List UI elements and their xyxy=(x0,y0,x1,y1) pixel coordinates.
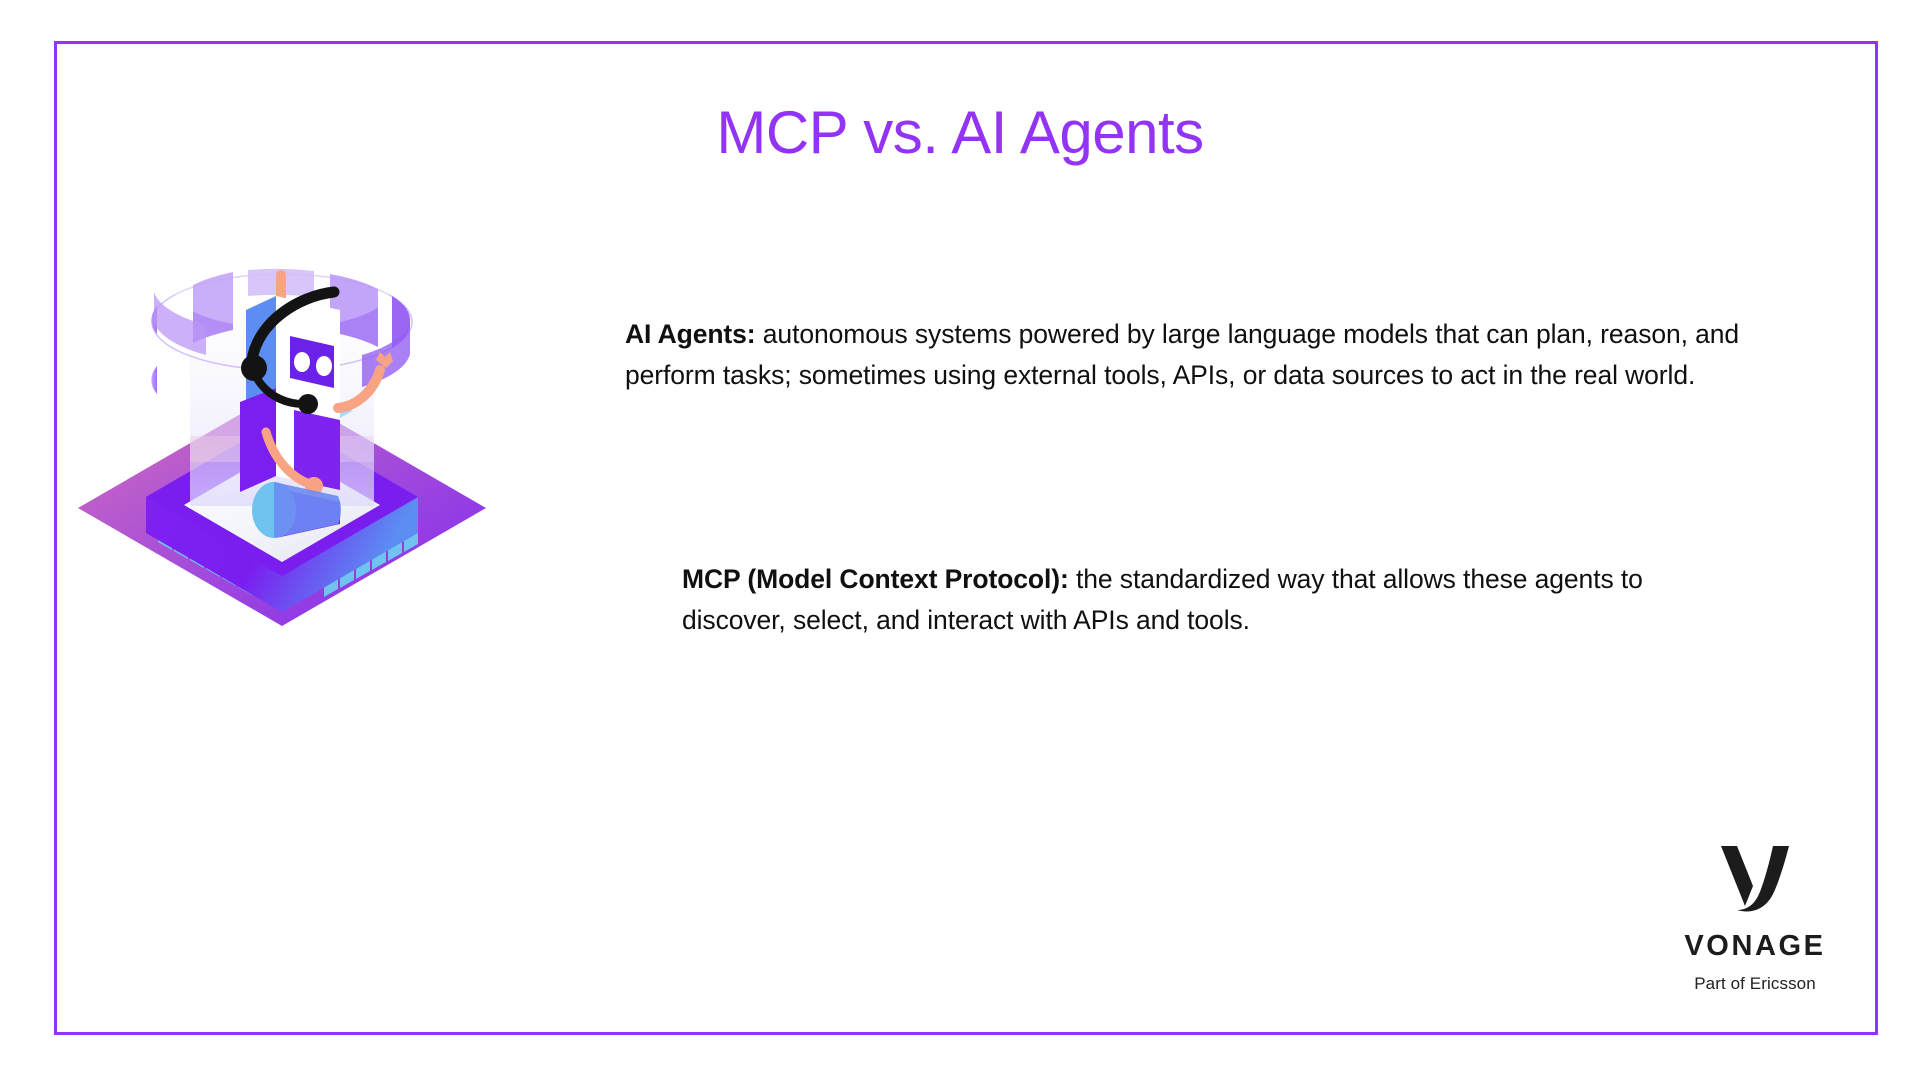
ai-agents-text: autonomous systems powered by large lang… xyxy=(625,319,1739,390)
vonage-v-icon xyxy=(1717,840,1793,916)
mcp-paragraph: MCP (Model Context Protocol): the standa… xyxy=(682,559,1722,641)
robot-eye-left xyxy=(294,352,310,372)
vonage-logo: VONAGE Part of Ericsson xyxy=(1655,840,1855,994)
headset-earcup xyxy=(241,355,267,381)
mcp-lead: MCP (Model Context Protocol): xyxy=(682,564,1069,594)
ai-agents-lead: AI Agents: xyxy=(625,319,756,349)
vonage-wordmark: VONAGE xyxy=(1655,930,1855,963)
headset-mic xyxy=(298,394,318,414)
ai-robot-on-chip-illustration: AI xyxy=(62,210,502,650)
vonage-tagline: Part of Ericsson xyxy=(1655,974,1855,994)
page-title: MCP vs. AI Agents xyxy=(420,98,1500,167)
slide-canvas: MCP vs. AI Agents xyxy=(0,0,1920,1080)
robot-eye-right xyxy=(316,356,332,376)
ai-agents-paragraph: AI Agents: autonomous systems powered by… xyxy=(625,314,1765,396)
